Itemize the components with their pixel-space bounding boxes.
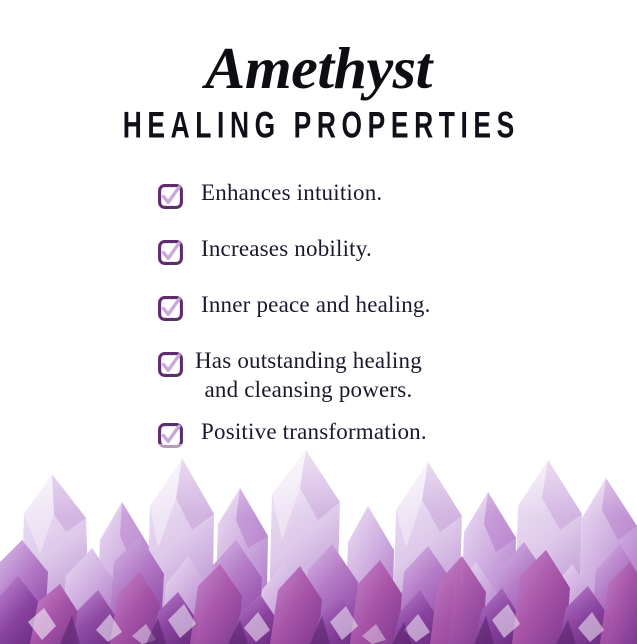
amethyst-crystal-cluster-image <box>0 444 637 644</box>
checkbox-checked-icon <box>158 296 183 321</box>
healing-properties-list: Enhances intuition. Increases nobility. … <box>0 178 637 473</box>
list-item-label: Has outstanding healing and cleansing po… <box>195 346 422 404</box>
page-title: Amethyst <box>0 36 637 100</box>
list-item-label: Inner peace and healing. <box>201 290 431 319</box>
checkbox-checked-icon <box>158 184 183 209</box>
list-item: Inner peace and healing. <box>0 290 637 321</box>
list-item: Enhances intuition. <box>0 178 637 209</box>
checkbox-checked-icon <box>158 240 183 265</box>
poster-header: Amethyst HEALING PROPERTIES <box>0 0 637 144</box>
list-item-label: Positive transformation. <box>201 417 427 446</box>
list-item-label: Enhances intuition. <box>201 178 382 207</box>
checkbox-checked-icon <box>158 352 183 377</box>
list-item: Increases nobility. <box>0 234 637 265</box>
list-item: Has outstanding healing and cleansing po… <box>0 346 637 404</box>
list-item-label: Increases nobility. <box>201 234 372 263</box>
amethyst-healing-properties-poster: Amethyst HEALING PROPERTIES Enhances int… <box>0 0 637 644</box>
page-subtitle: HEALING PROPERTIES <box>64 104 574 147</box>
